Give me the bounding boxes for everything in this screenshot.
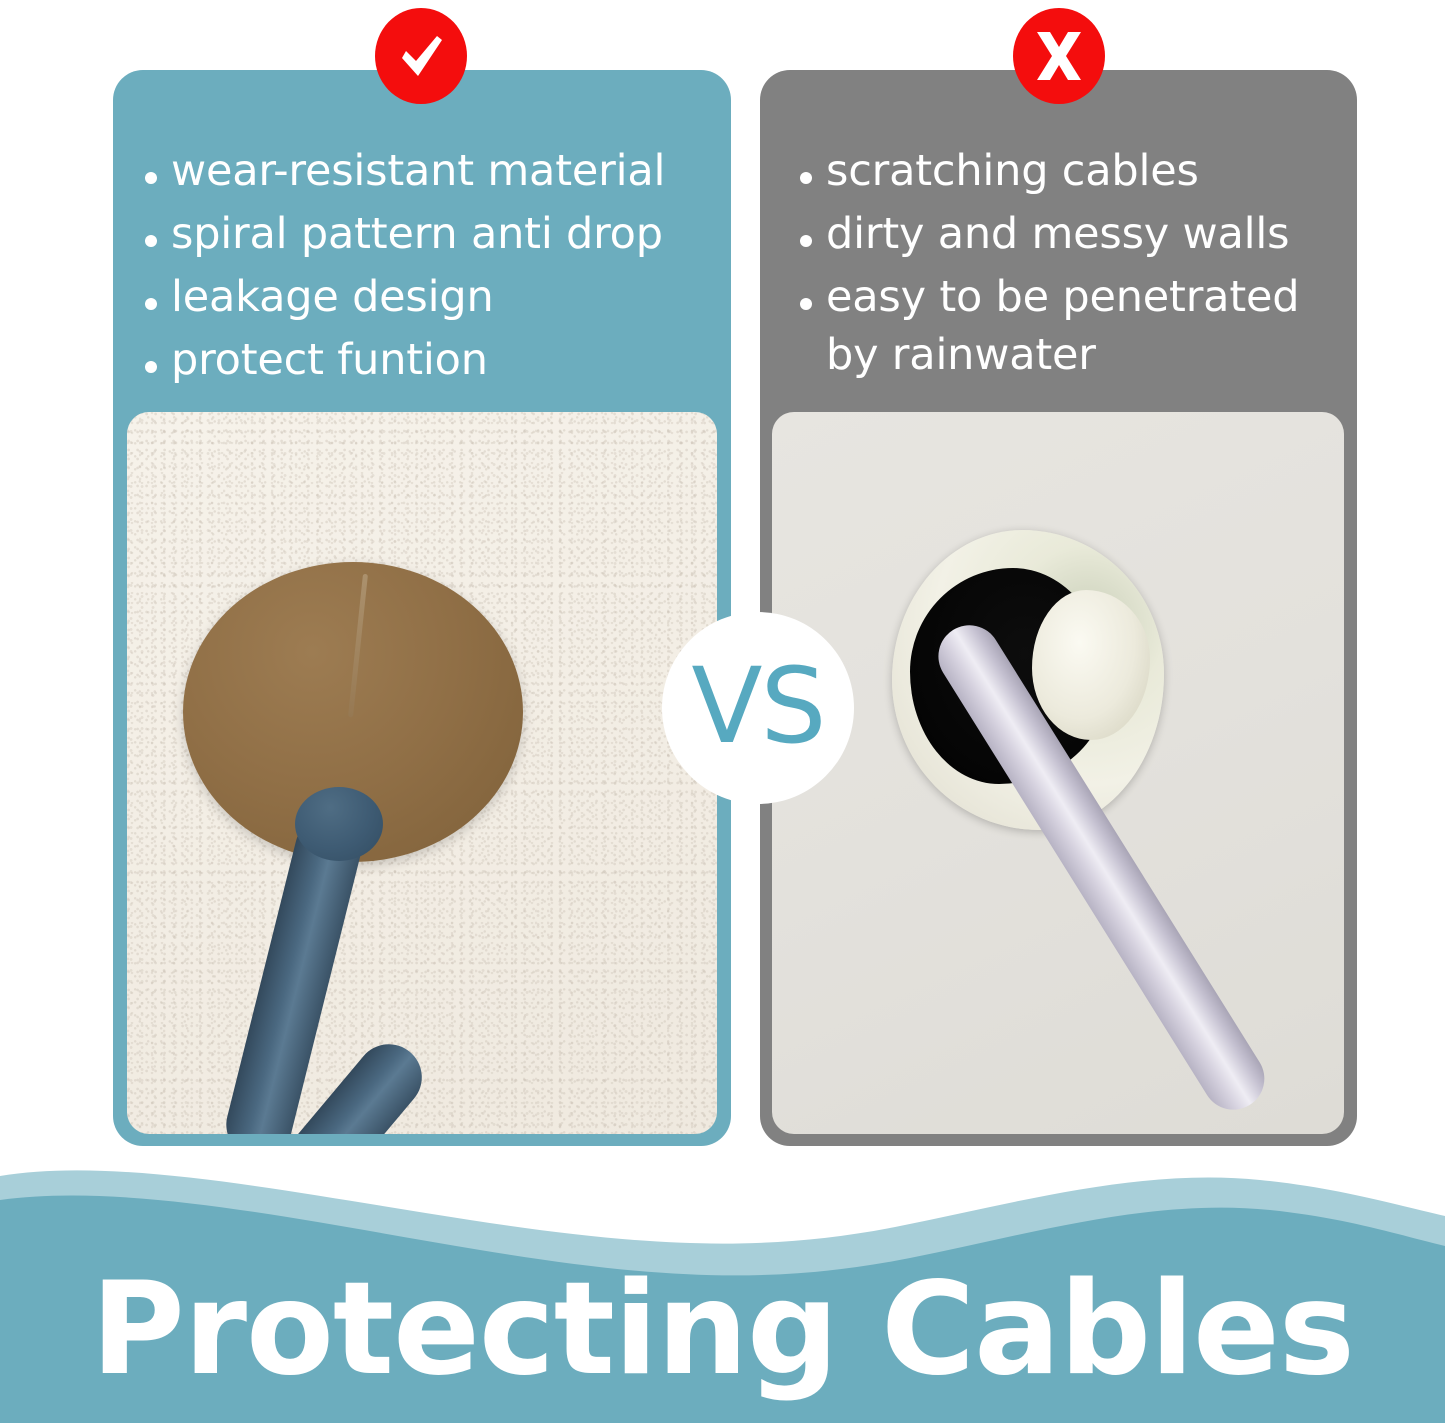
bullet-text: spiral pattern anti drop [171,205,663,263]
vs-badge: VS [662,612,854,804]
check-icon [375,8,467,104]
vs-label: VS [691,654,824,758]
bullet-text: scratching cables [826,142,1199,200]
bullet-text: leakage design [171,268,494,326]
bullet-text: easy to be penetrated by rainwater [826,268,1346,384]
bullet-text: wear-resistant material [171,142,665,200]
bullet-dot-icon [145,235,157,247]
cable-grommet [295,787,383,861]
page-title: Protecting Cables [0,1266,1445,1394]
bullet-dot-icon [800,235,812,247]
bad-drawback-list: scratching cables dirty and messy walls … [800,142,1375,389]
list-item: dirty and messy walls [800,205,1375,263]
list-item: scratching cables [800,142,1375,200]
bullet-text: protect funtion [171,331,488,389]
x-icon [1013,8,1105,104]
bottom-wave-banner: Protecting Cables [0,1158,1445,1423]
infographic-canvas: wear-resistant material spiral pattern a… [0,0,1445,1423]
plate-slit [348,574,368,718]
list-item: wear-resistant material [145,142,735,200]
good-feature-list: wear-resistant material spiral pattern a… [145,142,735,394]
list-item: easy to be penetrated by rainwater [800,268,1375,384]
list-item: spiral pattern anti drop [145,205,735,263]
list-item: protect funtion [145,331,735,389]
list-item: leakage design [145,268,735,326]
bullet-dot-icon [145,172,157,184]
bullet-dot-icon [145,298,157,310]
good-product-photo [127,412,717,1134]
bad-product-photo [772,412,1344,1134]
bullet-dot-icon [145,361,157,373]
bullet-dot-icon [800,298,812,310]
bullet-text: dirty and messy walls [826,205,1289,263]
bullet-dot-icon [800,172,812,184]
